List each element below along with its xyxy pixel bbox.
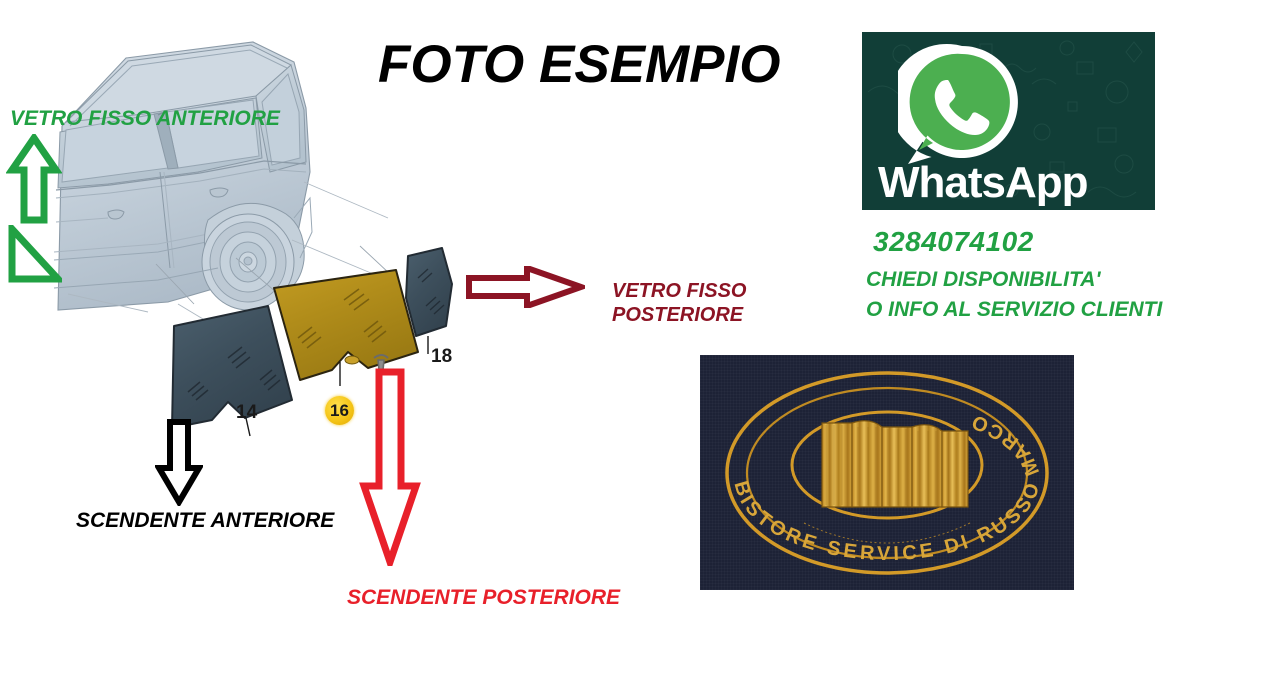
shop-logo-plate: MRICAMBISTORE SERVICE DI RUSSO MARCO xyxy=(700,355,1074,590)
down-arrow-outline-red-icon xyxy=(359,368,421,566)
down-arrow-outline-black-icon xyxy=(155,418,203,506)
part-number-16: 16 xyxy=(325,396,354,425)
whatsapp-banner: WhatsApp xyxy=(862,32,1155,210)
whatsapp-logo-icon xyxy=(898,42,1028,170)
right-arrow-outline-darkred-icon xyxy=(465,266,585,308)
poster-canvas: 14 16 17 18 FOTO ESEMPIO VETRO FISSO ANT… xyxy=(0,0,1264,678)
triangle-outline-green-icon xyxy=(6,225,62,283)
label-rear-fixed-glass-line2: POSTERIORE xyxy=(612,304,746,328)
contact-line-1: CHIEDI DISPONIBILITA' xyxy=(866,268,1100,292)
whatsapp-wordmark: WhatsApp xyxy=(878,158,1088,208)
label-front-fixed-glass: VETRO FISSO ANTERIORE xyxy=(10,107,280,132)
label-rear-fixed-glass-line1: VETRO FISSO xyxy=(612,280,746,304)
part-number-14: 14 xyxy=(236,402,257,424)
label-rear-drop-glass: SCENDENTE POSTERIORE xyxy=(347,586,620,611)
shop-logo-emblem: MRICAMBISTORE SERVICE DI RUSSO MARCO xyxy=(700,355,1074,590)
label-front-drop-glass: SCENDENTE ANTERIORE xyxy=(76,509,334,534)
up-arrow-outline-green-icon xyxy=(6,134,62,224)
page-title: FOTO ESEMPIO xyxy=(378,34,780,95)
phone-number[interactable]: 3284074102 xyxy=(873,226,1034,258)
part-number-18: 18 xyxy=(431,346,452,368)
exploded-parts-illustration xyxy=(150,240,480,440)
contact-line-2: O INFO AL SERVIZIO CLIENTI xyxy=(866,298,1162,322)
label-rear-fixed-glass: VETRO FISSO POSTERIORE xyxy=(612,280,746,327)
